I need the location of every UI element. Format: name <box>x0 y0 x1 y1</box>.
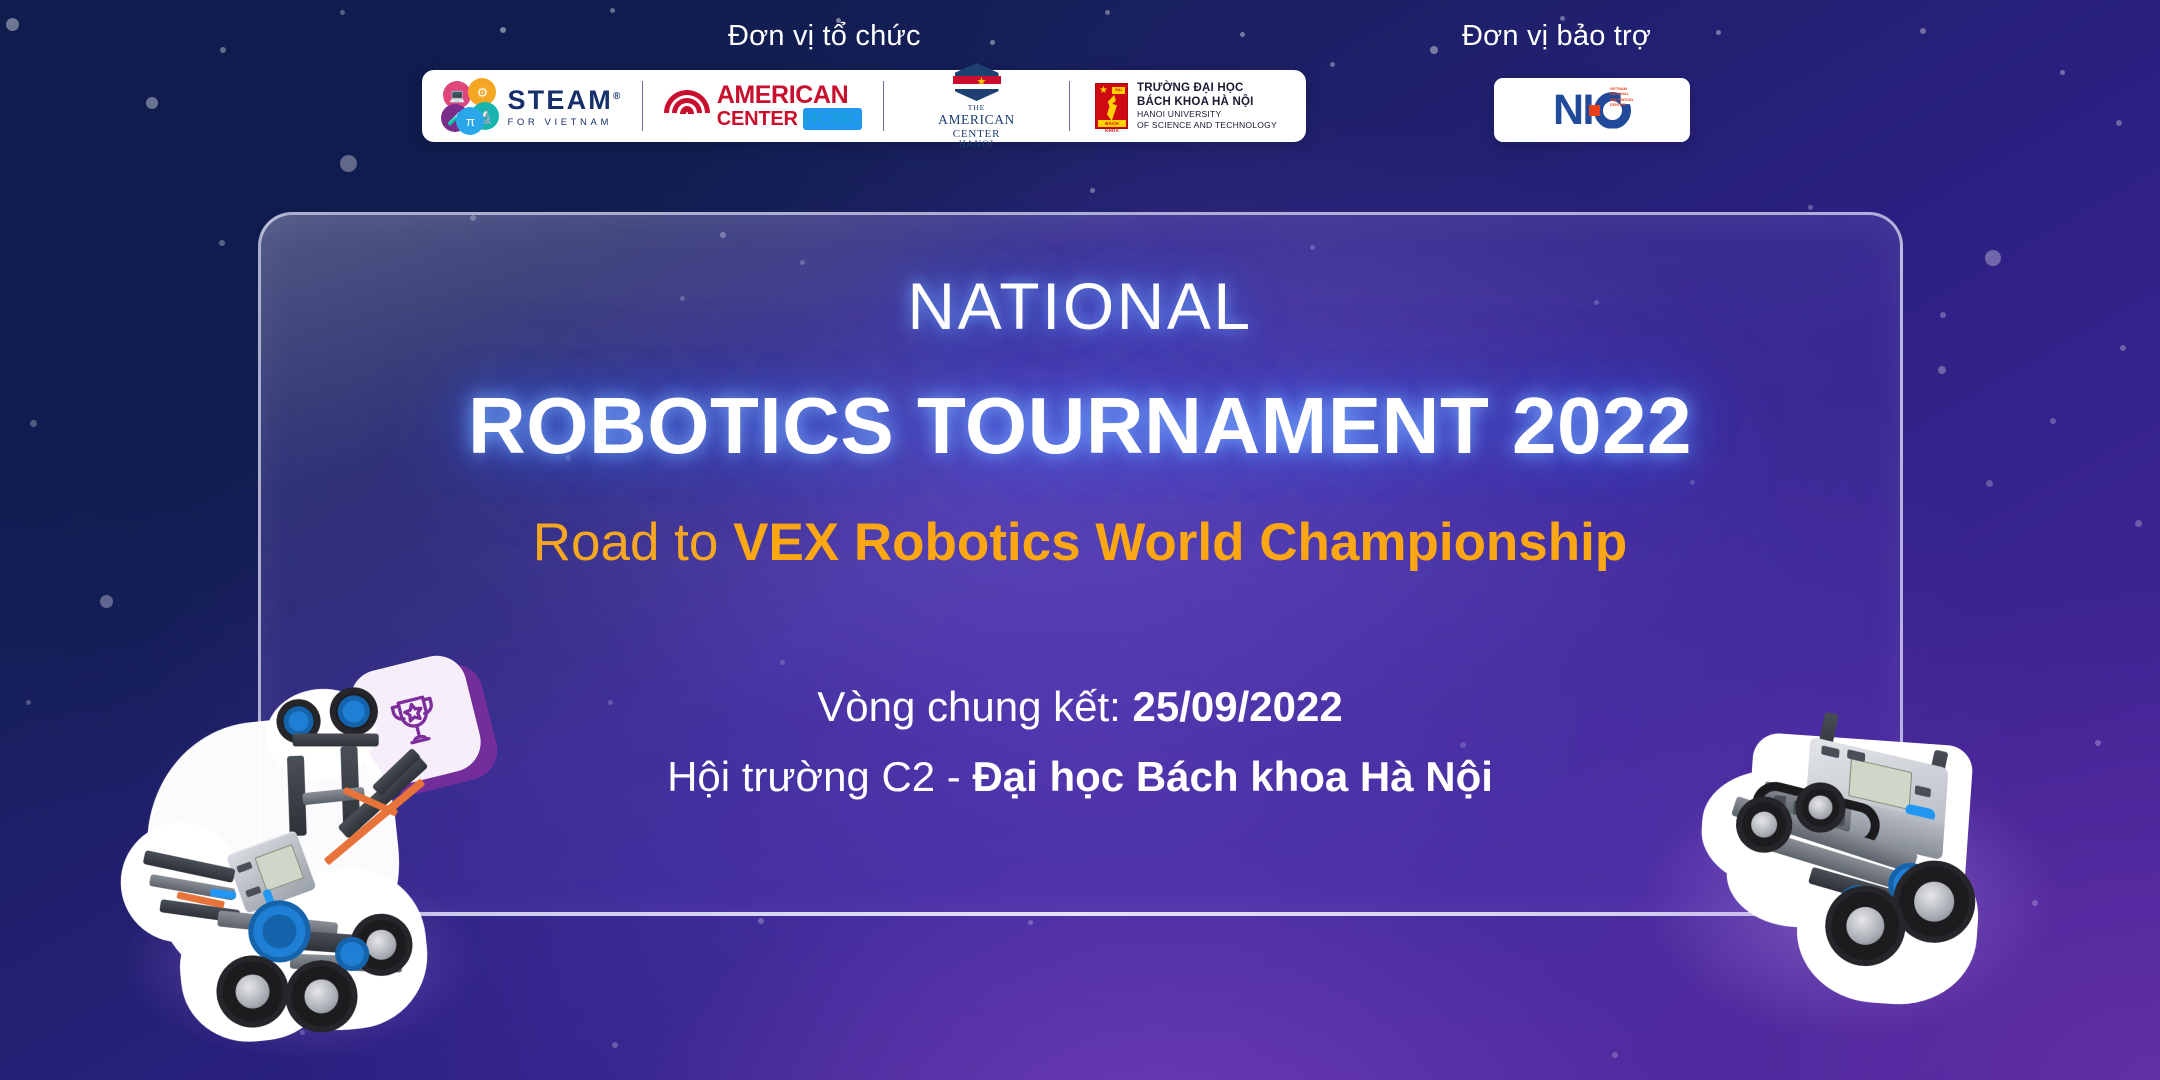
ach-line1: THE <box>968 103 986 112</box>
wifi-icon <box>664 90 710 122</box>
poster-canvas: Đơn vị tổ chức 💻 ⚙ 🧪 🔬 π STEAM® FOR VIET… <box>0 0 2160 1080</box>
hero-subtitle-bold: VEX Robotics World Championship <box>733 513 1627 572</box>
steam-tagline: FOR VIETNAM <box>507 117 622 128</box>
american-center-hanoi-emblem-icon: ★ <box>949 62 1005 102</box>
final-round-date-label: Vòng chung kết: <box>817 683 1132 730</box>
venue-bold: Đại học Bách khoa Hà Nội <box>972 753 1492 800</box>
hero-subtitle: Road to VEX Robotics World Championship <box>0 512 2160 573</box>
nic-tagline: VIETNAM NATIONAL INNOVATION CENTER <box>1610 87 1633 109</box>
hust-line1: TRƯỜNG ĐẠI HỌC <box>1137 82 1277 96</box>
hust-line3: HANOI UNIVERSITY <box>1137 109 1277 119</box>
nic-wordmark: NI <box>1553 89 1593 132</box>
ach-line3: CENTER <box>953 128 1001 140</box>
sponsor-label: Đơn vị bảo trợ <box>1462 20 1651 53</box>
hust-line4: OF SCIENCE AND TECHNOLOGY <box>1137 120 1277 130</box>
logo-divider <box>883 81 884 131</box>
ach-line4: HANOI <box>959 140 995 150</box>
registered-mark: ® <box>613 91 623 102</box>
hust-emblem-icon: ★ ĐẠI HỌC BÁCH KHOA <box>1095 83 1128 129</box>
logo-american-center-hcmc: AMERICAN CENTER HCMC <box>643 70 883 142</box>
logo-american-center-hanoi: ★ THE AMERICAN CENTER HANOI <box>884 70 1069 142</box>
steam-wordmark: STEAM <box>507 85 613 115</box>
american-center-line2-blue: HCMC <box>803 108 862 130</box>
logo-divider <box>642 81 643 131</box>
venue-prefix: Hội trường C2 - <box>667 753 972 800</box>
hust-plate-text: BÁCH KHOA <box>1098 120 1126 127</box>
hero-eyebrow: NATIONAL <box>0 268 2160 344</box>
hust-badge-text: ĐẠI HỌC <box>1112 87 1125 94</box>
final-round-date-value: 25/09/2022 <box>1133 683 1343 730</box>
steam-flower-icon: 💻 ⚙ 🧪 🔬 π <box>441 78 499 134</box>
vex-robot-right <box>1680 698 2000 1018</box>
ach-line2: AMERICAN <box>938 112 1015 128</box>
american-center-line1: AMERICAN <box>717 83 863 109</box>
vex-robot-left <box>113 685 447 1054</box>
logo-steam-for-vietnam: 💻 ⚙ 🧪 🔬 π STEAM® FOR VIETNAM <box>422 70 642 142</box>
hust-line2: BÁCH KHOA HÀ NỘI <box>1137 96 1277 110</box>
sponsor-logo-card: NI VIETNAM NATIONAL INNOVATION CENTER <box>1494 78 1690 142</box>
hero-subtitle-prefix: Road to <box>533 513 733 572</box>
logo-divider <box>1069 81 1070 131</box>
organizer-logo-bar: 💻 ⚙ 🧪 🔬 π STEAM® FOR VIETNAM AMERICAN <box>422 70 1306 142</box>
logo-hust: ★ ĐẠI HỌC BÁCH KHOA TRƯỜNG ĐẠI HỌC BÁCH … <box>1070 70 1302 142</box>
organizer-label: Đơn vị tổ chức <box>728 20 921 53</box>
logo-nic: NI VIETNAM NATIONAL INNOVATION CENTER <box>1553 89 1631 132</box>
american-center-line2-red: CENTER <box>717 108 798 130</box>
hero-title: ROBOTICS TOURNAMENT 2022 <box>0 380 2160 472</box>
